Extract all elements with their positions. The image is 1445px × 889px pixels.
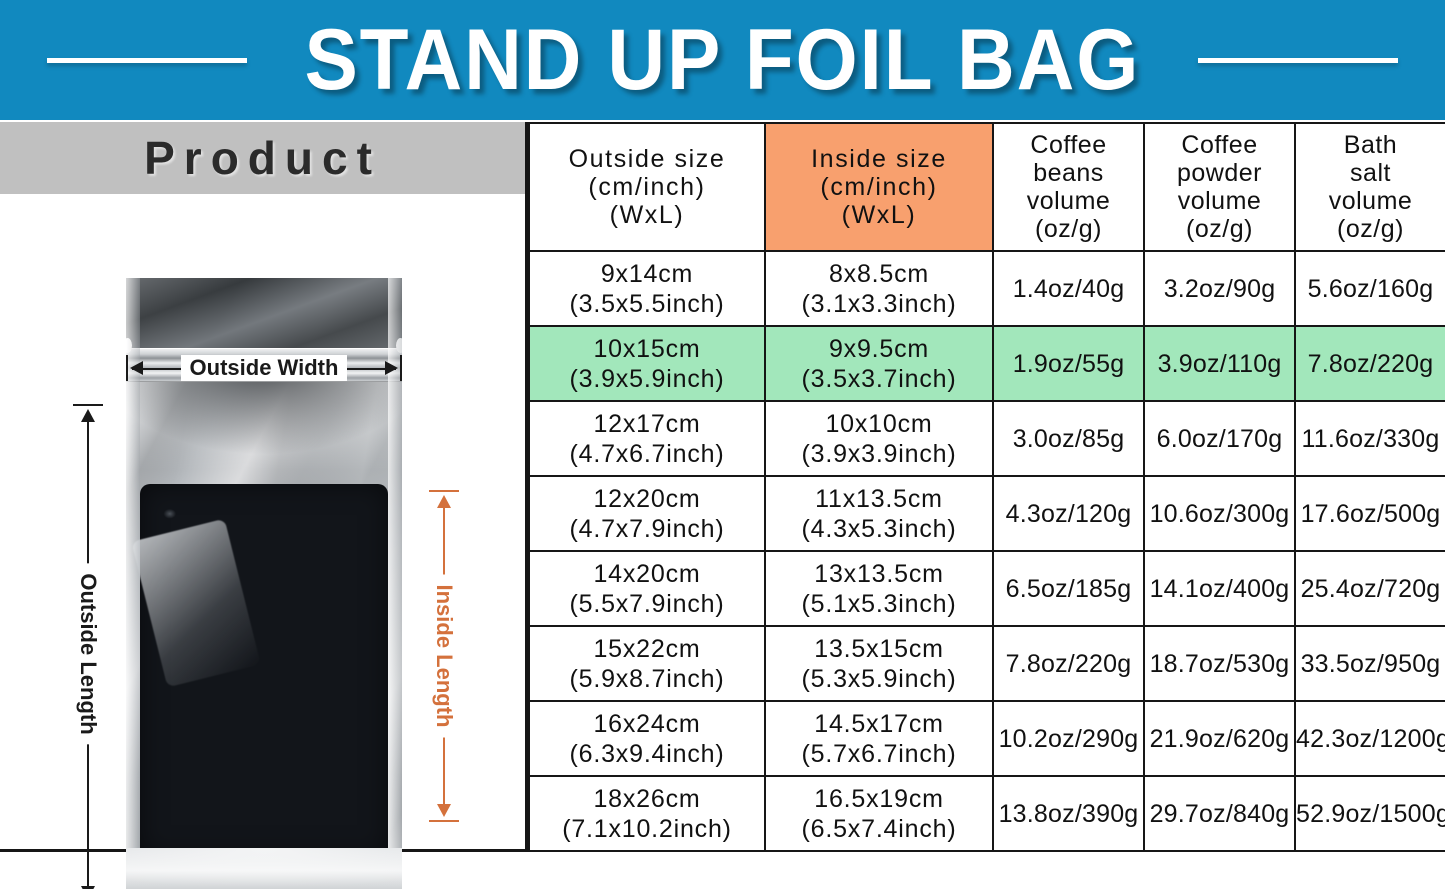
cell-coffee-powder-volume: 21.9oz/620g [1144,701,1295,776]
cell-coffee-powder-volume: 3.2oz/90g [1144,251,1295,326]
outside-length-tick-top [73,404,103,406]
cell-coffee-beans-volume: 7.8oz/220g [993,626,1144,701]
header-coffee-beans-volume: Coffee beans volume (oz/g) [993,123,1144,251]
cell-bath-salt-volume: 42.3oz/1200g [1295,701,1445,776]
header-coffee-beans-line1: Coffee [994,131,1143,159]
inside-size-cm: 14.5x17cm [766,709,992,739]
outside-size-cm: 18x26cm [530,784,764,814]
header-outside-size-line2: (cm/inch) [530,173,764,201]
cell-outside-size: 12x20cm(4.7x7.9inch) [529,476,765,551]
inside-size-cm: 8x8.5cm [766,259,992,289]
table-row: 15x22cm(5.9x8.7inch)13.5x15cm(5.3x5.9inc… [529,626,1445,701]
bag-bottom-gusset [126,848,402,889]
cell-coffee-beans-volume: 13.8oz/390g [993,776,1144,851]
outside-size-inch: (5.5x7.9inch) [530,589,764,619]
cell-outside-size: 9x14cm(3.5x5.5inch) [529,251,765,326]
cell-outside-size: 16x24cm(6.3x9.4inch) [529,701,765,776]
inside-size-inch: (5.1x5.3inch) [766,589,992,619]
outside-size-inch: (4.7x6.7inch) [530,439,764,469]
specification-table: Outside size (cm/inch) (WxL) Inside size… [528,122,1445,852]
cell-outside-size: 10x15cm(3.9x5.9inch) [529,326,765,401]
table-row: 16x24cm(6.3x9.4inch)14.5x17cm(5.7x6.7inc… [529,701,1445,776]
bag-shoulder-shading [126,382,402,492]
table-row: 10x15cm(3.9x5.9inch)9x9.5cm(3.5x3.7inch)… [529,326,1445,401]
header-coffee-beans-line4: (oz/g) [994,215,1143,243]
cell-bath-salt-volume: 33.5oz/950g [1295,626,1445,701]
table-row: 14x20cm(5.5x7.9inch)13x13.5cm(5.1x5.3inc… [529,551,1445,626]
table-body: 9x14cm(3.5x5.5inch)8x8.5cm(3.1x3.3inch)1… [529,251,1445,851]
cell-inside-size: 11x13.5cm(4.3x5.3inch) [765,476,993,551]
cell-coffee-powder-volume: 10.6oz/300g [1144,476,1295,551]
inside-size-cm: 16.5x19cm [766,784,992,814]
arrow-right-icon [385,361,398,375]
cell-inside-size: 13x13.5cm(5.1x5.3inch) [765,551,993,626]
table-row: 12x20cm(4.7x7.9inch)11x13.5cm(4.3x5.3inc… [529,476,1445,551]
cell-inside-size: 9x9.5cm(3.5x3.7inch) [765,326,993,401]
header-coffee-powder-volume: Coffee powder volume (oz/g) [1144,123,1295,251]
inside-size-cm: 9x9.5cm [766,334,992,364]
outside-size-inch: (3.5x5.5inch) [530,289,764,319]
outside-size-inch: (3.9x5.9inch) [530,364,764,394]
header-coffee-powder-line1: Coffee [1145,131,1294,159]
outside-size-cm: 12x17cm [530,409,764,439]
cell-bath-salt-volume: 52.9oz/1500g [1295,776,1445,851]
table-row: 18x26cm(7.1x10.2inch)16.5x19cm(6.5x7.4in… [529,776,1445,851]
table-row: 9x14cm(3.5x5.5inch)8x8.5cm(3.1x3.3inch)1… [529,251,1445,326]
cell-coffee-beans-volume: 6.5oz/185g [993,551,1144,626]
inside-length-tick-top [429,490,459,492]
cell-outside-size: 12x17cm(4.7x6.7inch) [529,401,765,476]
outside-size-cm: 12x20cm [530,484,764,514]
inside-size-cm: 10x10cm [766,409,992,439]
table-row: 12x17cm(4.7x6.7inch)10x10cm(3.9x3.9inch)… [529,401,1445,476]
cell-inside-size: 8x8.5cm(3.1x3.3inch) [765,251,993,326]
header-bath-salt-volume: Bath salt volume (oz/g) [1295,123,1445,251]
product-column-header: Product [0,122,525,194]
arrow-down-icon [437,804,451,817]
outside-size-inch: (5.9x8.7inch) [530,664,764,694]
inside-size-inch: (3.5x3.7inch) [766,364,992,394]
cell-outside-size: 18x26cm(7.1x10.2inch) [529,776,765,851]
header-coffee-powder-line3: volume [1145,187,1294,215]
header-bath-salt-line2: salt [1296,159,1445,187]
outside-size-cm: 9x14cm [530,259,764,289]
arrow-up-icon [81,409,95,422]
cell-coffee-powder-volume: 6.0oz/170g [1144,401,1295,476]
inside-size-cm: 11x13.5cm [766,484,992,514]
cell-outside-size: 14x20cm(5.5x7.9inch) [529,551,765,626]
inside-size-inch: (5.7x6.7inch) [766,739,992,769]
header-outside-size-line3: (WxL) [530,201,764,229]
outside-width-label: Outside Width [181,355,348,381]
cell-bath-salt-volume: 25.4oz/720g [1295,551,1445,626]
cell-coffee-beans-volume: 1.4oz/40g [993,251,1144,326]
table-header-row: Outside size (cm/inch) (WxL) Inside size… [529,123,1445,251]
cell-outside-size: 15x22cm(5.9x8.7inch) [529,626,765,701]
inside-size-inch: (4.3x5.3inch) [766,514,992,544]
outside-size-cm: 15x22cm [530,634,764,664]
page-title: STAND UP FOIL BAG [305,17,1141,103]
header-inside-size-line3: (WxL) [766,201,992,229]
inside-size-inch: (6.5x7.4inch) [766,814,992,844]
product-panel: Product Outside Width [0,122,528,852]
cell-coffee-beans-volume: 4.3oz/120g [993,476,1144,551]
outside-size-cm: 14x20cm [530,559,764,589]
outside-width-tick-left [126,355,128,381]
outside-length-annotation: Outside Length [68,404,108,889]
header-inside-size-line2: (cm/inch) [766,173,992,201]
header-bath-salt-line4: (oz/g) [1296,215,1445,243]
cell-inside-size: 10x10cm(3.9x3.9inch) [765,401,993,476]
header-inside-size: Inside size (cm/inch) (WxL) [765,123,993,251]
banner-rule-left [47,58,247,63]
page-banner: STAND UP FOIL BAG [0,0,1445,120]
arrow-up-icon [437,495,451,508]
cell-coffee-beans-volume: 10.2oz/290g [993,701,1144,776]
outside-size-inch: (4.7x7.9inch) [530,514,764,544]
cell-bath-salt-volume: 11.6oz/330g [1295,401,1445,476]
inside-size-cm: 13x13.5cm [766,559,992,589]
inside-size-inch: (3.9x3.9inch) [766,439,992,469]
inside-length-annotation: Inside Length [424,490,464,822]
cell-coffee-beans-volume: 3.0oz/85g [993,401,1144,476]
header-inside-size-line1: Inside size [766,145,992,173]
cell-bath-salt-volume: 17.6oz/500g [1295,476,1445,551]
header-coffee-powder-line2: powder [1145,159,1294,187]
table-header: Outside size (cm/inch) (WxL) Inside size… [529,123,1445,251]
cell-coffee-powder-volume: 29.7oz/840g [1144,776,1295,851]
cell-coffee-beans-volume: 1.9oz/55g [993,326,1144,401]
cell-inside-size: 13.5x15cm(5.3x5.9inch) [765,626,993,701]
cell-bath-salt-volume: 5.6oz/160g [1295,251,1445,326]
product-spec-page: STAND UP FOIL BAG Product [0,0,1445,889]
inside-length-tick-bottom [429,820,459,822]
header-outside-size-line1: Outside size [530,145,764,173]
inside-size-inch: (3.1x3.3inch) [766,289,992,319]
header-coffee-powder-line4: (oz/g) [1145,215,1294,243]
bag-top-panel [126,278,402,354]
outside-size-inch: (7.1x10.2inch) [530,814,764,844]
arrow-left-icon [130,361,143,375]
cell-inside-size: 14.5x17cm(5.7x6.7inch) [765,701,993,776]
header-outside-size: Outside size (cm/inch) (WxL) [529,123,765,251]
outside-length-label: Outside Length [75,563,101,744]
banner-rule-right [1198,58,1398,63]
inside-size-cm: 13.5x15cm [766,634,992,664]
cell-coffee-powder-volume: 18.7oz/530g [1144,626,1295,701]
inside-length-label: Inside Length [431,575,457,738]
outside-size-inch: (6.3x9.4inch) [530,739,764,769]
outside-width-tick-right [400,355,402,381]
product-column-header-label: Product [144,131,381,185]
cell-coffee-powder-volume: 14.1oz/400g [1144,551,1295,626]
outside-width-annotation: Outside Width [126,350,402,386]
header-coffee-beans-line2: beans [994,159,1143,187]
cell-coffee-powder-volume: 3.9oz/110g [1144,326,1295,401]
outside-size-cm: 16x24cm [530,709,764,739]
cell-bath-salt-volume: 7.8oz/220g [1295,326,1445,401]
outside-size-cm: 10x15cm [530,334,764,364]
header-coffee-beans-line3: volume [994,187,1143,215]
header-bath-salt-line1: Bath [1296,131,1445,159]
cell-inside-size: 16.5x19cm(6.5x7.4inch) [765,776,993,851]
inside-size-inch: (5.3x5.9inch) [766,664,992,694]
header-bath-salt-line3: volume [1296,187,1445,215]
